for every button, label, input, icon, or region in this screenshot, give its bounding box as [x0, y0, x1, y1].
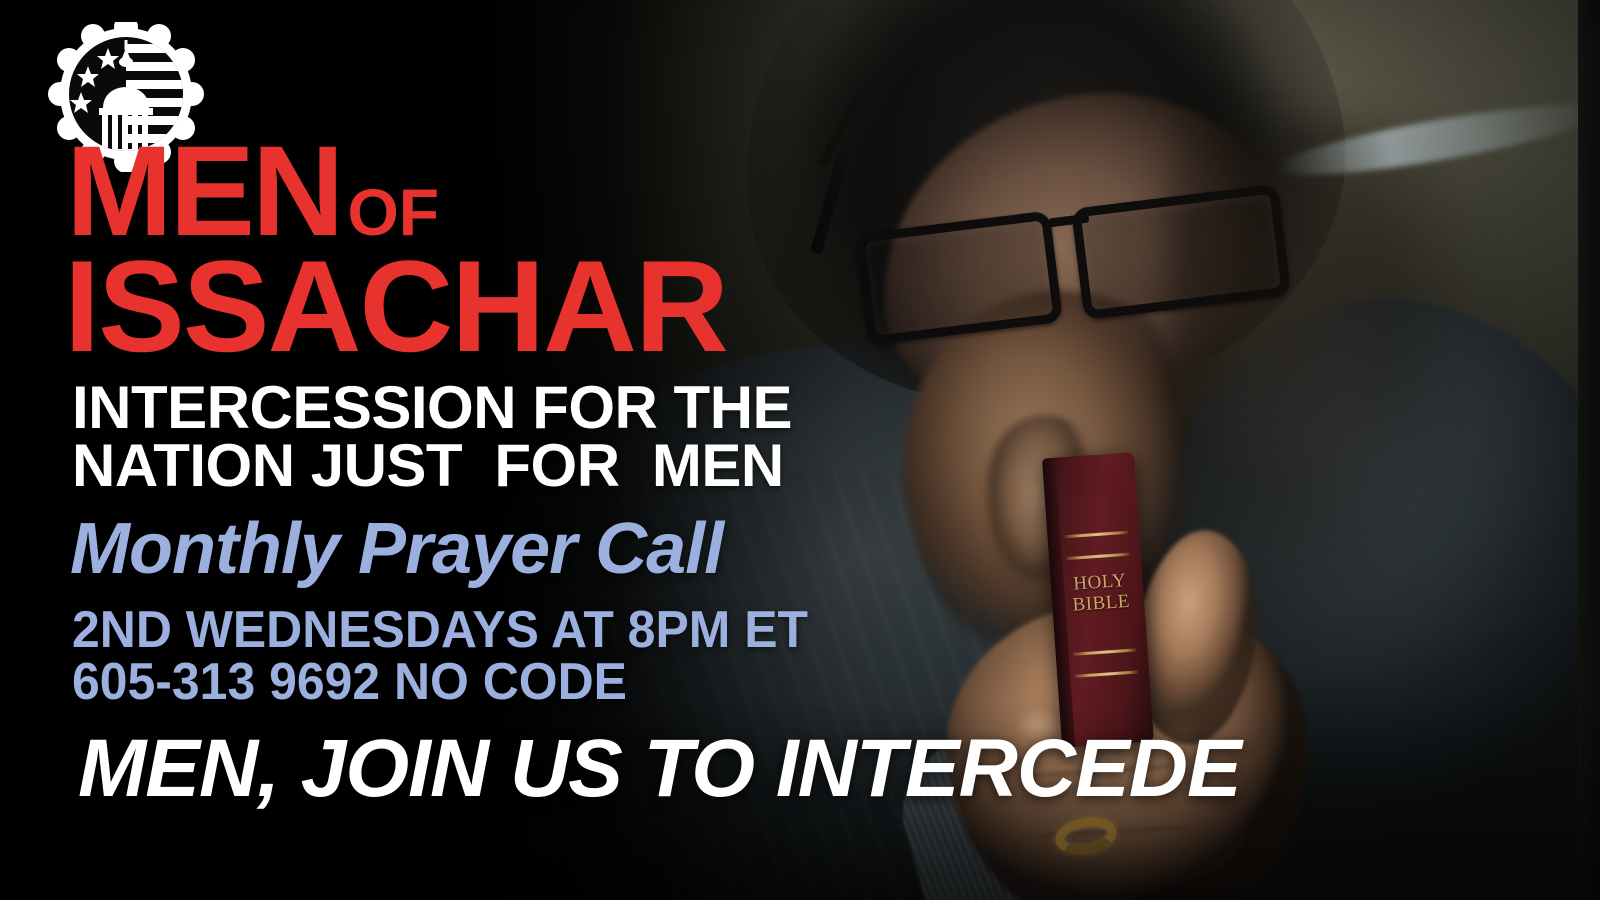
- headline-issachar: ISSACHAR: [64, 252, 727, 361]
- headline-men-of: MENOF: [66, 140, 439, 245]
- subtitle-line-2: NATION JUST FOR MEN: [72, 436, 784, 496]
- event-title: Monthly Prayer Call: [70, 508, 723, 590]
- subtitle-line-1: INTERCESSION FOR THE: [72, 378, 792, 438]
- call-to-action: MEN, JOIN US TO INTERCEDE: [78, 722, 1241, 816]
- event-dial-in: 605-313 9692 NO CODE: [72, 652, 627, 712]
- prayer-call-flyer: HOLY BIBLE: [0, 0, 1600, 900]
- event-schedule: 2ND WEDNESDAYS AT 8PM ET: [72, 600, 808, 660]
- flyer-text-content: MENOF ISSACHAR INTERCESSION FOR THE NATI…: [0, 0, 1600, 900]
